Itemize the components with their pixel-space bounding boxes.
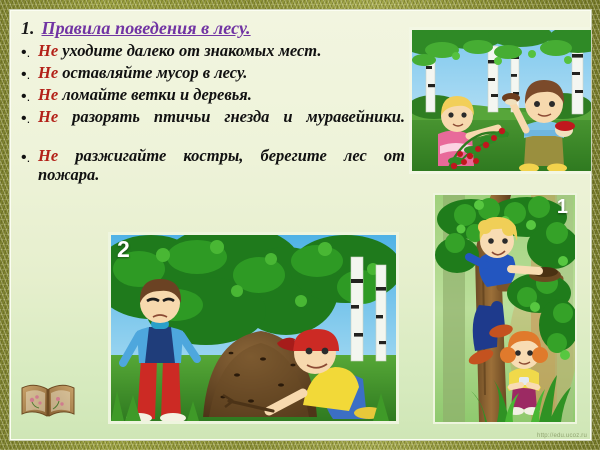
berries-scene-illustration (412, 30, 592, 171)
title-text: Правила поведения в лесу. (42, 19, 251, 39)
rule-text: Не разорять птичьи гнезда и муравейники. (38, 107, 405, 145)
rule-body: разорять птичьи гнезда и муравейники. (58, 107, 405, 126)
rules-text-block: 1. Правила поведения в лесу. •. Не уходи… (19, 19, 405, 203)
nest-scene-illustration (435, 195, 575, 422)
open-book-icon (18, 380, 78, 422)
rule-text: Не ломайте ветки и деревья. (38, 85, 405, 104)
list-item: •. Не разжигайте костры, берегите лес от… (21, 146, 405, 203)
bullet-marker: •. (21, 41, 38, 62)
picture-bird-nest: 1 (433, 193, 577, 424)
picture-caption: 2 (117, 238, 130, 261)
bullet-marker: •. (21, 63, 38, 84)
watermark: http://edu.ucoz.ru (537, 433, 587, 439)
bullet-marker: •. (21, 107, 38, 128)
bullet-marker: •. (21, 146, 38, 167)
rule-text: Не уходите далеко от знакомых мест. (38, 41, 405, 60)
list-item: •. Не оставляйте мусор в лесу. (21, 63, 405, 84)
slide-frame: 1. Правила поведения в лесу. •. Не уходи… (0, 0, 600, 450)
slide-canvas: 1. Правила поведения в лесу. •. Не уходи… (9, 9, 592, 441)
rule-body: уходите далеко от знакомых мест. (58, 41, 321, 60)
list-item: •. Не уходите далеко от знакомых мест. (21, 41, 405, 62)
title-number: 1. (21, 19, 35, 39)
open-book-glyph (18, 380, 78, 422)
anthill-scene-illustration (111, 235, 396, 421)
list-item: •. Не разорять птичьи гнезда и муравейни… (21, 107, 405, 145)
rule-body: оставляйте мусор в лесу. (58, 63, 247, 82)
negation-word: Не (38, 146, 58, 165)
rule-body: ломайте ветки и деревья. (58, 85, 252, 104)
picture-caption: 1 (557, 197, 568, 217)
negation-word: Не (38, 107, 58, 126)
negation-word: Не (38, 63, 58, 82)
page-title: 1. Правила поведения в лесу. (21, 19, 405, 39)
picture-berries-mushrooms (409, 27, 592, 174)
rule-body: разжигайте костры, берегите лес от пожар… (38, 146, 405, 184)
rule-text: Не разжигайте костры, берегите лес от по… (38, 146, 405, 203)
rule-text: Не оставляйте мусор в лесу. (38, 63, 405, 82)
list-item: •. Не ломайте ветки и деревья. (21, 85, 405, 106)
negation-word: Не (38, 85, 58, 104)
bullet-marker: •. (21, 85, 38, 106)
negation-word: Не (38, 41, 58, 60)
picture-anthill: 2 (108, 232, 399, 424)
